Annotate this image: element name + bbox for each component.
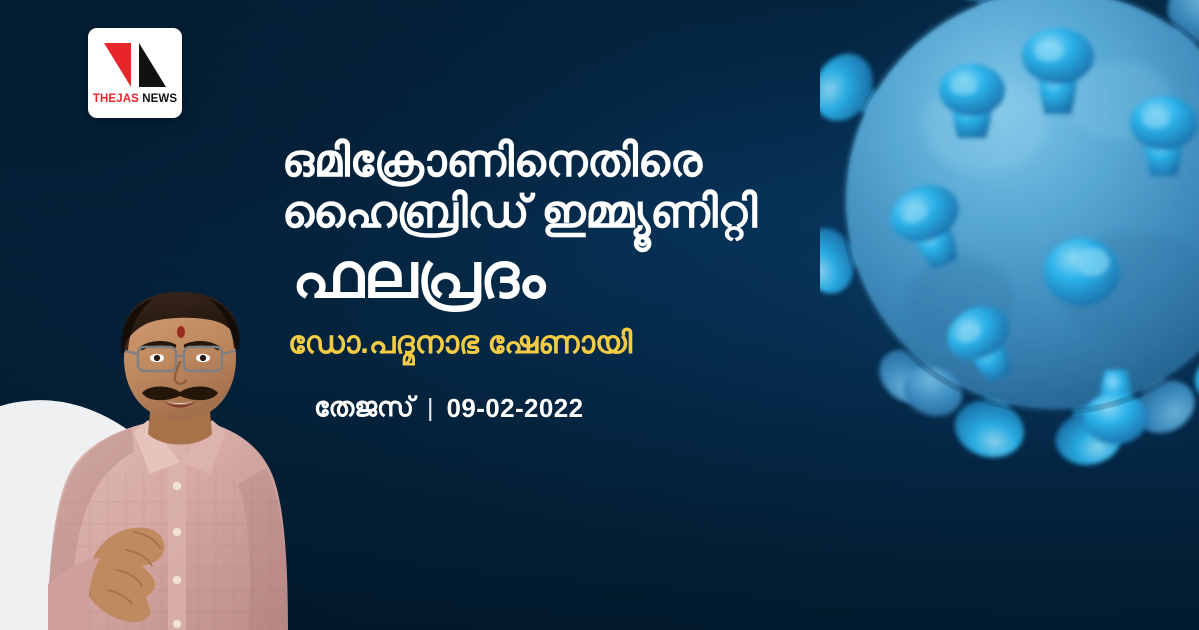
doctor-portrait (30, 292, 320, 630)
source-separator: | (427, 394, 434, 423)
logo-word-news: NEWS (142, 93, 177, 105)
logo-word-thejas: THEJAS (93, 93, 139, 105)
headline-line-2: ഹൈബ്രിഡ് ഇമ്മ്യൂണിറ്റി (282, 189, 902, 236)
publication-date: 09-02-2022 (446, 393, 583, 424)
headline-block: ഒമിക്രോണിനെതിരെ ഹൈബ്രിഡ് ഇമ്മ്യൂണിറ്റി ഫ… (282, 138, 902, 424)
logo-mark-group (104, 43, 166, 87)
black-triangle-icon (139, 43, 166, 87)
author-byline: ഡോ.പദ്മനാഭ ഷേണായി (288, 325, 902, 362)
publication-name: തേജസ് (314, 392, 414, 424)
logo-wordmark: THEJAS NEWS (93, 94, 177, 106)
news-card: THEJAS NEWS ഒമിക്രോണിനെതിരെ ഹൈബ്രിഡ് ഇമ്… (0, 0, 1199, 630)
headline-line-1: ഒമിക്രോണിനെതിരെ (282, 138, 902, 185)
red-triangle-icon (104, 43, 131, 87)
headline-line-3: ഫലപ്രദം (292, 244, 902, 310)
source-line: തേജസ് | 09-02-2022 (314, 392, 902, 424)
thejas-news-logo[interactable]: THEJAS NEWS (88, 28, 182, 118)
